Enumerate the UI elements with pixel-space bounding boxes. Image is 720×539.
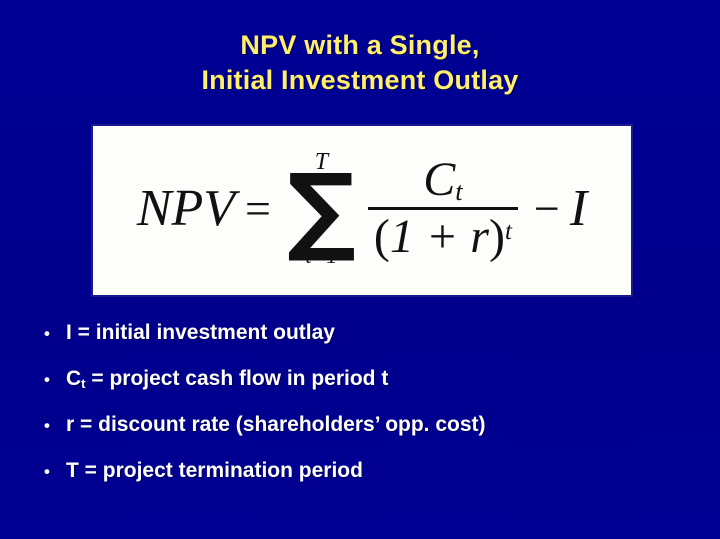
list-item: • T = project termination period [44, 450, 684, 496]
variable-definition: = project cash flow in period t [86, 367, 389, 390]
list-item-text: T = project termination period [66, 450, 363, 496]
summation-lower-limit: t=1 [305, 245, 337, 267]
denominator-open-paren: ( [374, 210, 390, 263]
formula-box: NPV = T ∑ t=1 Ct (1 + r)t − I [91, 124, 633, 297]
variable-symbol: C [66, 367, 81, 390]
list-item-text: r = discount rate (shareholders’ opp. co… [66, 404, 486, 450]
bullet-marker-icon: • [44, 313, 66, 354]
fraction-denominator: (1 + r)t [368, 210, 518, 262]
summation-sigma-icon: ∑ [287, 170, 356, 249]
slide-canvas: NPV with a Single, Initial Investment Ou… [0, 0, 720, 539]
list-item: • I = initial investment outlay [44, 312, 684, 358]
bullet-marker-icon: • [44, 405, 66, 446]
numerator-base: C [423, 153, 455, 206]
equals-sign: = [239, 186, 277, 232]
definitions-list: • I = initial investment outlay • Ct = p… [44, 312, 684, 495]
title-line-2: Initial Investment Outlay [0, 63, 720, 98]
equation-lhs: NPV [137, 183, 235, 235]
variable-definition: = initial investment outlay [72, 321, 335, 344]
fraction-group: Ct (1 + r)t [368, 155, 518, 263]
bullet-marker-icon: • [44, 359, 66, 400]
minus-sign: − [528, 186, 566, 232]
denominator-body: 1 + r [390, 210, 489, 263]
bullet-marker-icon: • [44, 451, 66, 492]
title-line-1: NPV with a Single, [0, 28, 720, 63]
list-item: • r = discount rate (shareholders’ opp. … [44, 404, 684, 450]
npv-equation: NPV = T ∑ t=1 Ct (1 + r)t − I [137, 150, 587, 267]
denominator-close-paren: ) [489, 210, 505, 263]
variable-definition: = project termination period [79, 459, 363, 482]
denominator-exponent: t [505, 218, 512, 245]
list-item-text: I = initial investment outlay [66, 312, 335, 358]
variable-symbol: T [66, 459, 79, 482]
summation-group: T ∑ t=1 [287, 150, 356, 267]
equation-trailing-term: I [570, 183, 587, 235]
list-item-text: Ct = project cash flow in period t [66, 358, 388, 404]
fraction-numerator: Ct [413, 155, 472, 207]
numerator-subscript: t [455, 175, 462, 205]
slide-title: NPV with a Single, Initial Investment Ou… [0, 28, 720, 98]
variable-definition: = discount rate (shareholders’ opp. cost… [74, 413, 485, 436]
variable-symbol: r [66, 413, 74, 436]
list-item: • Ct = project cash flow in period t [44, 358, 684, 404]
